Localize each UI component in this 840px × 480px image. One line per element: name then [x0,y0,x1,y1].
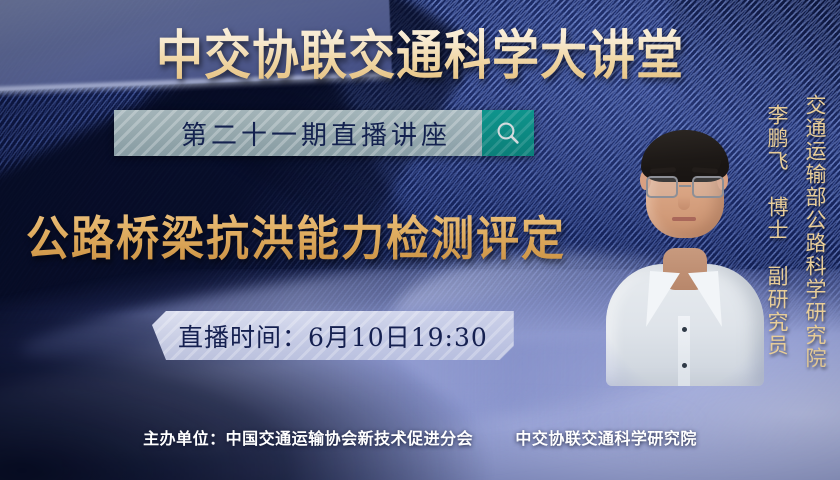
footer-organizers: 主办单位：中国交通运输协会新技术促进分会 中交协联交通科学研究院 [0,425,840,449]
footer-organizer-primary: 主办单位：中国交通运输协会新技术促进分会 [143,429,473,448]
webinar-poster: 中交协联交通科学大讲堂 第二十一期直播讲座 公路桥梁抗洪能力检测评定 直播时间：… [0,0,840,480]
footer-organizer-secondary: 中交协联交通科学研究院 [515,429,697,448]
background-vignette [0,0,840,480]
